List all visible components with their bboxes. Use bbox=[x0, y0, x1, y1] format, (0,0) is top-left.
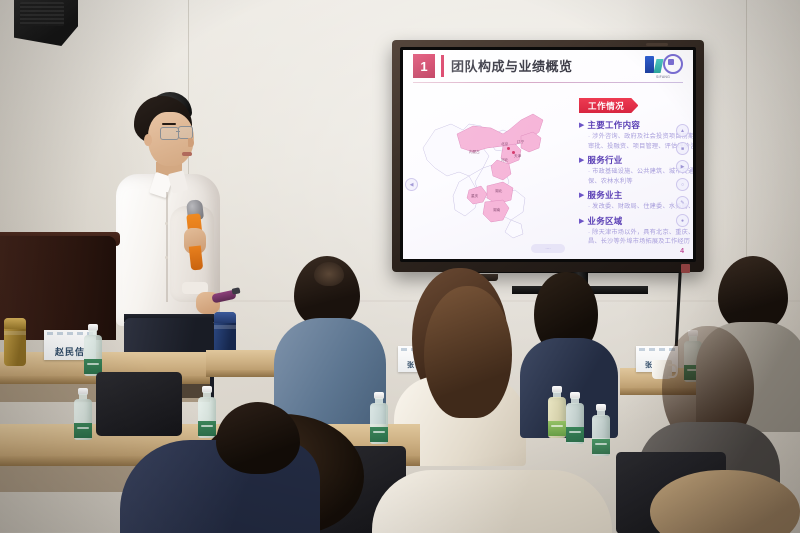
presenter-nose bbox=[188, 138, 194, 147]
thermos-lid bbox=[4, 318, 26, 329]
audience-member-navy-foreground bbox=[0, 440, 300, 533]
slide-bottom-control[interactable]: ···· bbox=[531, 244, 565, 253]
audience-head bbox=[216, 402, 300, 474]
map-label-neimenggu: 内蒙古 bbox=[469, 150, 480, 155]
bottle-body bbox=[592, 415, 610, 456]
bullet-heading: 主要工作内容 bbox=[587, 120, 640, 131]
section-banner: 工作情况 bbox=[579, 98, 638, 113]
tv-power-led bbox=[681, 264, 690, 273]
presenter-shirt-button bbox=[165, 256, 168, 259]
tool-play-icon[interactable]: ▶ bbox=[676, 160, 689, 173]
presenter-mouth bbox=[182, 152, 192, 156]
glasses-left-lens-icon bbox=[160, 127, 179, 140]
tool-up-icon[interactable]: ▲ bbox=[676, 124, 689, 137]
water-bottle bbox=[74, 388, 92, 440]
map-label-chongqing: 重庆 bbox=[471, 194, 478, 199]
map-label-beijing: 北京 bbox=[501, 142, 508, 147]
glasses-bridge-icon bbox=[176, 131, 180, 132]
bullet-heading: 服务业主 bbox=[587, 190, 622, 201]
bottle-body bbox=[548, 397, 566, 438]
water-bottle bbox=[566, 392, 584, 444]
bullet-heading: 服务行业 bbox=[587, 155, 622, 166]
water-bottle bbox=[370, 392, 388, 444]
microphone-lower-body bbox=[189, 245, 203, 270]
thermos-ring bbox=[214, 325, 236, 329]
water-bottle bbox=[84, 324, 102, 376]
slide-title: 团队构成与业绩概览 bbox=[451, 56, 573, 75]
audience-member-blue-shirt bbox=[274, 256, 384, 416]
tool-dot-icon[interactable]: ● bbox=[676, 214, 689, 227]
slide-prev-button[interactable]: ◀ bbox=[405, 178, 418, 191]
bottle-body bbox=[566, 403, 584, 444]
bottle-body bbox=[84, 335, 102, 376]
audience-member-foreground-right bbox=[372, 460, 622, 533]
audience-hair bbox=[650, 470, 800, 533]
tv-bezel-inner: 1 团队构成与业绩概览 SIFANG bbox=[400, 47, 696, 262]
bullet-triangle-icon: ▶ bbox=[579, 216, 584, 227]
bullet-triangle-icon: ▶ bbox=[579, 190, 584, 201]
logo-bar-blue bbox=[645, 56, 654, 73]
bullet-detail: · 除天津市场以外，具有北京、重庆、石家庄、南昌、长沙等外埠市场拓展及工作经历 bbox=[588, 228, 693, 247]
map-label-hebei: 河北 bbox=[501, 158, 508, 163]
company-logo: SIFANG bbox=[645, 54, 681, 78]
slide-title-divider bbox=[441, 55, 444, 77]
audience-member-far-right-foreground bbox=[650, 470, 800, 533]
name-card-name: 赵民佶 bbox=[55, 345, 85, 358]
bullet-heading: 业务区域 bbox=[587, 216, 622, 227]
map-label-hunan: 湖南 bbox=[493, 208, 500, 213]
bullet-triangle-icon: ▶ bbox=[579, 155, 584, 166]
juice-bottle bbox=[548, 386, 566, 438]
tool-square-icon[interactable]: ■ bbox=[676, 142, 689, 155]
audience-torso bbox=[372, 470, 612, 533]
tv-screen[interactable]: 1 团队构成与业绩概览 SIFANG bbox=[403, 50, 693, 259]
china-map-svg bbox=[417, 90, 559, 240]
conference-room-photo: 1 团队构成与业绩概览 SIFANG bbox=[0, 0, 800, 533]
bullet-triangle-icon: ▶ bbox=[579, 120, 584, 131]
gold-thermos bbox=[4, 318, 26, 366]
thermos-lid bbox=[214, 312, 236, 323]
slide-page-number: 4 bbox=[680, 248, 684, 255]
map-label-tianjin: 天津 bbox=[514, 154, 521, 159]
thermos-ring bbox=[4, 331, 26, 335]
presentation-slide: 1 团队构成与业绩概览 SIFANG bbox=[403, 50, 693, 259]
tv-ir-sensor bbox=[646, 43, 668, 46]
map-label-liaoning: 辽宁 bbox=[517, 140, 524, 145]
bottle-label bbox=[548, 421, 566, 436]
bottle-body bbox=[74, 399, 92, 440]
map-label-hubei: 湖北 bbox=[495, 189, 502, 194]
presenter-ear bbox=[144, 134, 152, 146]
china-map: 内蒙古 辽宁 北京 天津 河北 重庆 湖北 湖南 bbox=[417, 90, 559, 240]
logo-wordmark: SIFANG bbox=[645, 75, 681, 79]
audience-member-long-hair-cream bbox=[396, 268, 526, 438]
audience-hair-front bbox=[424, 286, 512, 418]
slide-section-number: 1 bbox=[413, 54, 435, 78]
logo-bar-teal bbox=[654, 59, 664, 73]
bottle-label bbox=[74, 423, 92, 438]
section-banner-label: 工作情况 bbox=[588, 100, 624, 112]
audience-bald-spot bbox=[314, 262, 344, 286]
audience-head bbox=[718, 256, 788, 332]
tool-pen-icon[interactable]: ✎ bbox=[676, 196, 689, 209]
map-dot-beijing bbox=[507, 147, 510, 150]
slide-title-rule bbox=[413, 82, 683, 83]
speaker-grille bbox=[20, 2, 64, 26]
water-bottle bbox=[592, 404, 610, 456]
logo-circle-purple bbox=[663, 54, 683, 74]
wall-seam-right bbox=[746, 0, 747, 300]
bottle-label bbox=[592, 439, 610, 454]
presenter-shirt-placket bbox=[166, 192, 168, 302]
whiteboard-toolbar[interactable]: ▲ ■ ▶ ○ ✎ ● bbox=[676, 124, 689, 227]
chair-foreground-left bbox=[96, 372, 182, 436]
bottle-label bbox=[566, 427, 584, 442]
wall-mounted-tv: 1 团队构成与业绩概览 SIFANG bbox=[392, 40, 704, 272]
presenter-eyebrow bbox=[162, 123, 176, 125]
bottle-label bbox=[370, 427, 388, 442]
bottle-body bbox=[370, 403, 388, 444]
presenter-shirt-button bbox=[165, 222, 168, 225]
tool-circle-icon[interactable]: ○ bbox=[676, 178, 689, 191]
